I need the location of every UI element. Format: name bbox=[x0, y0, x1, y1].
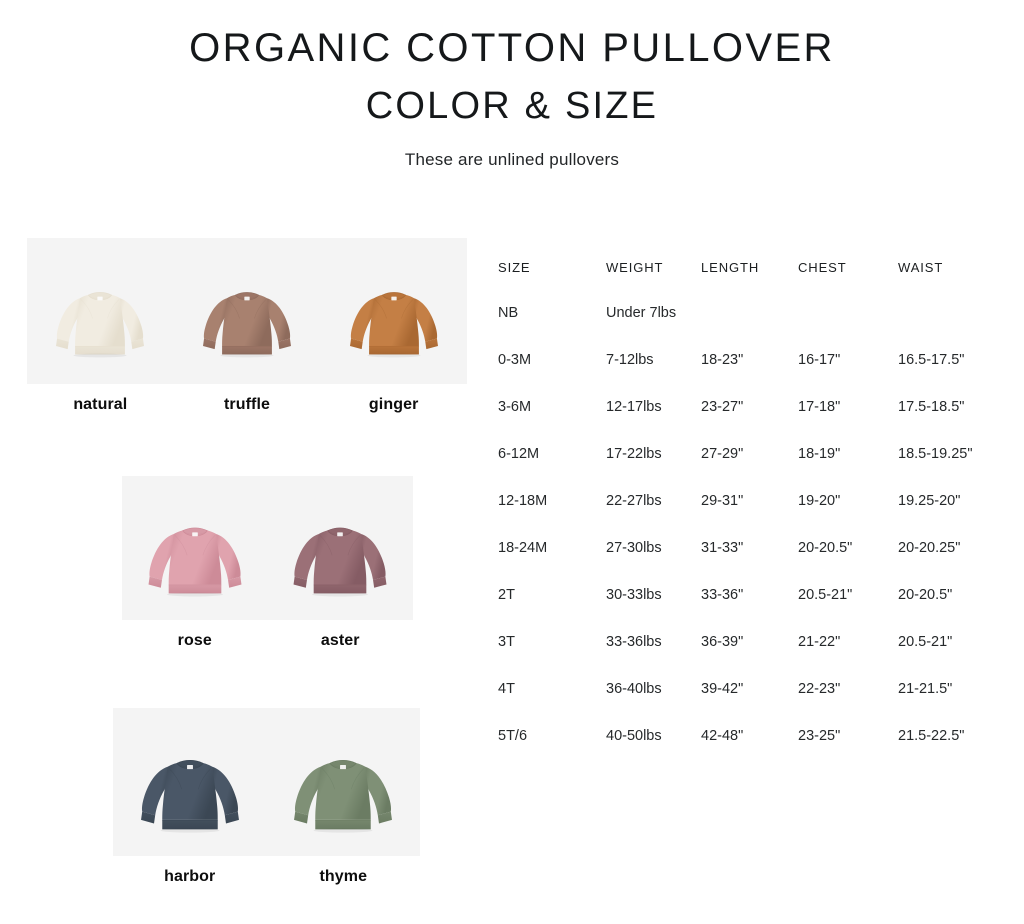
table-header-row: SIZEWEIGHTLENGTHCHESTWAIST bbox=[498, 260, 998, 305]
pullover-swatch[interactable] bbox=[284, 494, 396, 620]
measurement-cell: 20-20.5" bbox=[898, 587, 998, 634]
measurement-cell: 21.5-22.5" bbox=[898, 728, 998, 744]
measurement-cell: 19-20" bbox=[798, 493, 898, 540]
column-header: SIZE bbox=[498, 260, 606, 305]
color-label[interactable]: natural bbox=[27, 396, 174, 414]
pullover-swatch[interactable] bbox=[194, 256, 300, 384]
measurement-cell: 33-36" bbox=[701, 587, 798, 634]
measurement-cell: 12-17lbs bbox=[606, 399, 701, 446]
measurement-cell: 17.5-18.5" bbox=[898, 399, 998, 446]
product-image-panel bbox=[113, 708, 420, 856]
size-cell: 5T/6 bbox=[498, 728, 606, 744]
size-cell: 3-6M bbox=[498, 399, 606, 446]
swatch-label-group: harbor thyme bbox=[113, 868, 420, 886]
size-chart-body: NBUnder 7lbs0-3M7-12lbs18-23"16-17"16.5-… bbox=[498, 305, 998, 744]
column-header: CHEST bbox=[798, 260, 898, 305]
measurement-cell: 16.5-17.5" bbox=[898, 352, 998, 399]
page-subtitle: COLOR & SIZE bbox=[0, 83, 1024, 131]
measurement-cell: 21-22" bbox=[798, 634, 898, 681]
measurement-cell: 18.5-19.25" bbox=[898, 446, 998, 493]
color-label[interactable]: harbor bbox=[113, 868, 267, 886]
measurement-cell: 33-36lbs bbox=[606, 634, 701, 681]
measurement-cell: 21-21.5" bbox=[898, 681, 998, 728]
color-label[interactable]: thyme bbox=[267, 868, 421, 886]
table-row: 6-12M17-22lbs27-29"18-19"18.5-19.25" bbox=[498, 446, 998, 493]
measurement-cell: 27-29" bbox=[701, 446, 798, 493]
measurement-cell: 23-27" bbox=[701, 399, 798, 446]
measurement-cell: 20-20.25" bbox=[898, 540, 998, 587]
page-title: ORGANIC COTTON PULLOVER bbox=[0, 26, 1024, 71]
swatch-row: natural truffle ginger bbox=[0, 238, 490, 414]
measurement-cell: 22-23" bbox=[798, 681, 898, 728]
pullover-swatch[interactable] bbox=[47, 256, 153, 384]
measurement-cell: 23-25" bbox=[798, 728, 898, 744]
measurement-cell: 30-33lbs bbox=[606, 587, 701, 634]
pullover-swatch[interactable] bbox=[139, 494, 251, 620]
pullover-illustration bbox=[131, 726, 249, 856]
pullover-swatch[interactable] bbox=[284, 726, 402, 856]
table-row: 3T33-36lbs36-39"21-22"20.5-21" bbox=[498, 634, 998, 681]
table-row: 18-24M27-30lbs31-33"20-20.5"20-20.25" bbox=[498, 540, 998, 587]
swatch-label-group: natural truffle ginger bbox=[27, 396, 467, 414]
size-cell: 3T bbox=[498, 634, 606, 681]
size-cell: 0-3M bbox=[498, 352, 606, 399]
size-cell: NB bbox=[498, 305, 606, 352]
table-row: 2T30-33lbs33-36"20.5-21"20-20.5" bbox=[498, 587, 998, 634]
swatch-label-group: rose aster bbox=[122, 632, 413, 650]
column-header: WAIST bbox=[898, 260, 998, 305]
column-header: WEIGHT bbox=[606, 260, 701, 305]
color-label[interactable]: truffle bbox=[174, 396, 321, 414]
measurement-cell: Under 7lbs bbox=[606, 305, 701, 352]
table-row: 3-6M12-17lbs23-27"17-18"17.5-18.5" bbox=[498, 399, 998, 446]
color-swatch-column: natural truffle ginger bbox=[0, 238, 490, 886]
measurement-cell: 20-20.5" bbox=[798, 540, 898, 587]
measurement-cell bbox=[898, 305, 998, 352]
size-cell: 6-12M bbox=[498, 446, 606, 493]
measurement-cell: 40-50lbs bbox=[606, 728, 701, 744]
size-chart-table: SIZEWEIGHTLENGTHCHESTWAIST NBUnder 7lbs0… bbox=[498, 260, 998, 744]
product-image-panel bbox=[122, 476, 413, 620]
pullover-illustration bbox=[47, 256, 153, 384]
measurement-cell: 29-31" bbox=[701, 493, 798, 540]
size-chart-head: SIZEWEIGHTLENGTHCHESTWAIST bbox=[498, 260, 998, 305]
pullover-illustration bbox=[284, 494, 396, 620]
color-label[interactable]: rose bbox=[122, 632, 268, 650]
measurement-cell: 39-42" bbox=[701, 681, 798, 728]
swatch-row: harbor thyme bbox=[0, 708, 490, 886]
measurement-cell: 36-40lbs bbox=[606, 681, 701, 728]
pullover-illustration bbox=[139, 494, 251, 620]
swatch-row: rose aster bbox=[0, 476, 490, 650]
measurement-cell: 20.5-21" bbox=[798, 587, 898, 634]
table-row: NBUnder 7lbs bbox=[498, 305, 998, 352]
size-cell: 18-24M bbox=[498, 540, 606, 587]
table-row: 4T36-40lbs39-42"22-23"21-21.5" bbox=[498, 681, 998, 728]
pullover-illustration bbox=[284, 726, 402, 856]
table-row: 12-18M22-27lbs29-31"19-20"19.25-20" bbox=[498, 493, 998, 540]
measurement-cell: 18-23" bbox=[701, 352, 798, 399]
pullover-illustration bbox=[194, 256, 300, 384]
measurement-cell: 16-17" bbox=[798, 352, 898, 399]
color-label[interactable]: aster bbox=[268, 632, 414, 650]
pullover-illustration bbox=[341, 256, 447, 384]
measurement-cell: 42-48" bbox=[701, 728, 798, 744]
page-header: ORGANIC COTTON PULLOVER COLOR & SIZE The… bbox=[0, 0, 1024, 170]
measurement-cell: 17-22lbs bbox=[606, 446, 701, 493]
measurement-cell: 19.25-20" bbox=[898, 493, 998, 540]
measurement-cell: 27-30lbs bbox=[606, 540, 701, 587]
size-chart-column: SIZEWEIGHTLENGTHCHESTWAIST NBUnder 7lbs0… bbox=[498, 260, 1018, 744]
table-row: 5T/640-50lbs42-48"23-25"21.5-22.5" bbox=[498, 728, 998, 744]
measurement-cell: 7-12lbs bbox=[606, 352, 701, 399]
measurement-cell: 22-27lbs bbox=[606, 493, 701, 540]
page-tagline: These are unlined pullovers bbox=[0, 150, 1024, 170]
column-header: LENGTH bbox=[701, 260, 798, 305]
measurement-cell: 18-19" bbox=[798, 446, 898, 493]
measurement-cell: 36-39" bbox=[701, 634, 798, 681]
measurement-cell: 17-18" bbox=[798, 399, 898, 446]
product-image-panel bbox=[27, 238, 467, 384]
size-cell: 2T bbox=[498, 587, 606, 634]
measurement-cell: 31-33" bbox=[701, 540, 798, 587]
size-cell: 12-18M bbox=[498, 493, 606, 540]
table-row: 0-3M7-12lbs18-23"16-17"16.5-17.5" bbox=[498, 352, 998, 399]
measurement-cell: 20.5-21" bbox=[898, 634, 998, 681]
pullover-swatch[interactable] bbox=[131, 726, 249, 856]
size-cell: 4T bbox=[498, 681, 606, 728]
pullover-swatch[interactable] bbox=[341, 256, 447, 384]
measurement-cell bbox=[798, 305, 898, 352]
measurement-cell bbox=[701, 305, 798, 352]
color-label[interactable]: ginger bbox=[320, 396, 467, 414]
